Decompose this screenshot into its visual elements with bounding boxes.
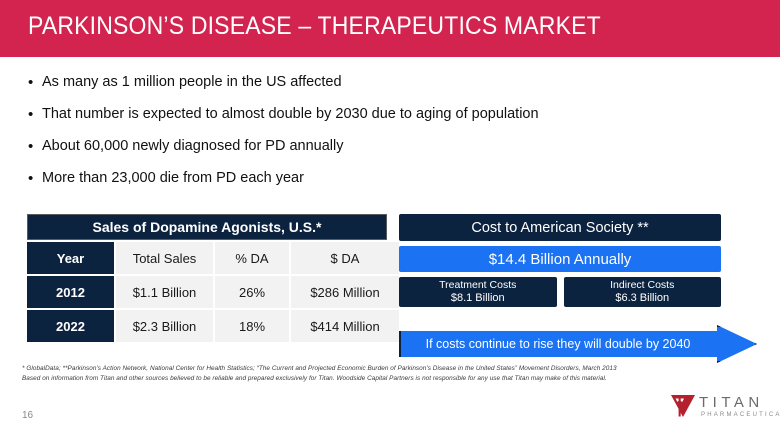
cost-box-value: $8.1 Billion <box>451 292 505 305</box>
cost-box-treatment: Treatment Costs $8.1 Billion <box>399 277 557 307</box>
column-header-pct-da: % DA <box>214 242 290 275</box>
logo-wordmark: TITAN <box>699 394 764 411</box>
cell-total-sales: $2.3 Billion <box>115 309 214 342</box>
column-header-dollar-da: $ DA <box>290 242 399 275</box>
cost-panel: Cost to American Society ** $14.4 Billio… <box>399 214 721 307</box>
sales-table-title: Sales of Dopamine Agonists, U.S.* <box>27 214 387 240</box>
logo-subtitle: PHARMACEUTICALS <box>701 412 780 418</box>
cell-dollar-da: $414 Million <box>290 309 399 342</box>
cell-pct-da: 26% <box>214 275 290 309</box>
cost-box-value: $6.3 Billion <box>615 292 669 305</box>
bullet-list: • As many as 1 million people in the US … <box>28 72 708 200</box>
table-row: 2012 $1.1 Billion 26% $286 Million <box>27 275 399 309</box>
bullet-marker-icon: • <box>28 168 42 189</box>
sales-table: Year Total Sales % DA $ DA 2012 $1.1 Bil… <box>27 242 399 342</box>
footnote-disclaimer: Based on information from Titan and othe… <box>22 374 762 384</box>
list-item: • As many as 1 million people in the US … <box>28 72 708 99</box>
bullet-marker-icon: • <box>28 104 42 125</box>
bullet-text: More than 23,000 die from PD each year <box>42 168 304 189</box>
cost-headline-amount: $14.4 Billion Annually <box>399 246 721 272</box>
cell-total-sales: $1.1 Billion <box>115 275 214 309</box>
footnote-sources: * GlobalData; **Parkinson’s Action Netwo… <box>22 364 762 374</box>
table-header-row: Year Total Sales % DA $ DA <box>27 242 399 275</box>
column-header-year: Year <box>27 242 115 275</box>
table-row: 2022 $2.3 Billion 18% $414 Million <box>27 309 399 342</box>
sales-table-block: Sales of Dopamine Agonists, U.S.* Year T… <box>27 214 387 342</box>
cost-box-indirect: Indirect Costs $6.3 Billion <box>564 277 722 307</box>
page-number: 16 <box>22 410 33 421</box>
titan-logo: TITAN PHARMACEUTICALS <box>670 391 770 427</box>
cost-breakdown-row: Treatment Costs $8.1 Billion Indirect Co… <box>399 277 721 307</box>
list-item: • About 60,000 newly diagnosed for PD an… <box>28 136 708 163</box>
cost-panel-title: Cost to American Society ** <box>399 214 721 241</box>
bullet-marker-icon: • <box>28 136 42 157</box>
cell-dollar-da: $286 Million <box>290 275 399 309</box>
bullet-text: As many as 1 million people in the US af… <box>42 72 342 93</box>
bullet-text: That number is expected to almost double… <box>42 104 539 125</box>
list-item: • More than 23,000 die from PD each year <box>28 168 708 195</box>
cell-year: 2012 <box>27 275 115 309</box>
slide-canvas: PARKINSON’S DISEASE – THERAPEUTICS MARKE… <box>0 0 780 438</box>
titan-triangle-icon <box>670 393 696 419</box>
projection-arrow: If costs continue to rise they will doub… <box>399 325 757 363</box>
cost-box-label: Treatment Costs <box>439 279 516 292</box>
slide-title-band: PARKINSON’S DISEASE – THERAPEUTICS MARKE… <box>0 0 780 57</box>
cost-box-label: Indirect Costs <box>610 279 674 292</box>
bullet-text: About 60,000 newly diagnosed for PD annu… <box>42 136 343 157</box>
projection-arrow-text: If costs continue to rise they will doub… <box>399 325 717 363</box>
page-title: PARKINSON’S DISEASE – THERAPEUTICS MARKE… <box>28 12 601 41</box>
bullet-marker-icon: • <box>28 72 42 93</box>
footnotes: * GlobalData; **Parkinson’s Action Netwo… <box>22 364 762 384</box>
cell-pct-da: 18% <box>214 309 290 342</box>
list-item: • That number is expected to almost doub… <box>28 104 708 131</box>
column-header-total-sales: Total Sales <box>115 242 214 275</box>
cell-year: 2022 <box>27 309 115 342</box>
